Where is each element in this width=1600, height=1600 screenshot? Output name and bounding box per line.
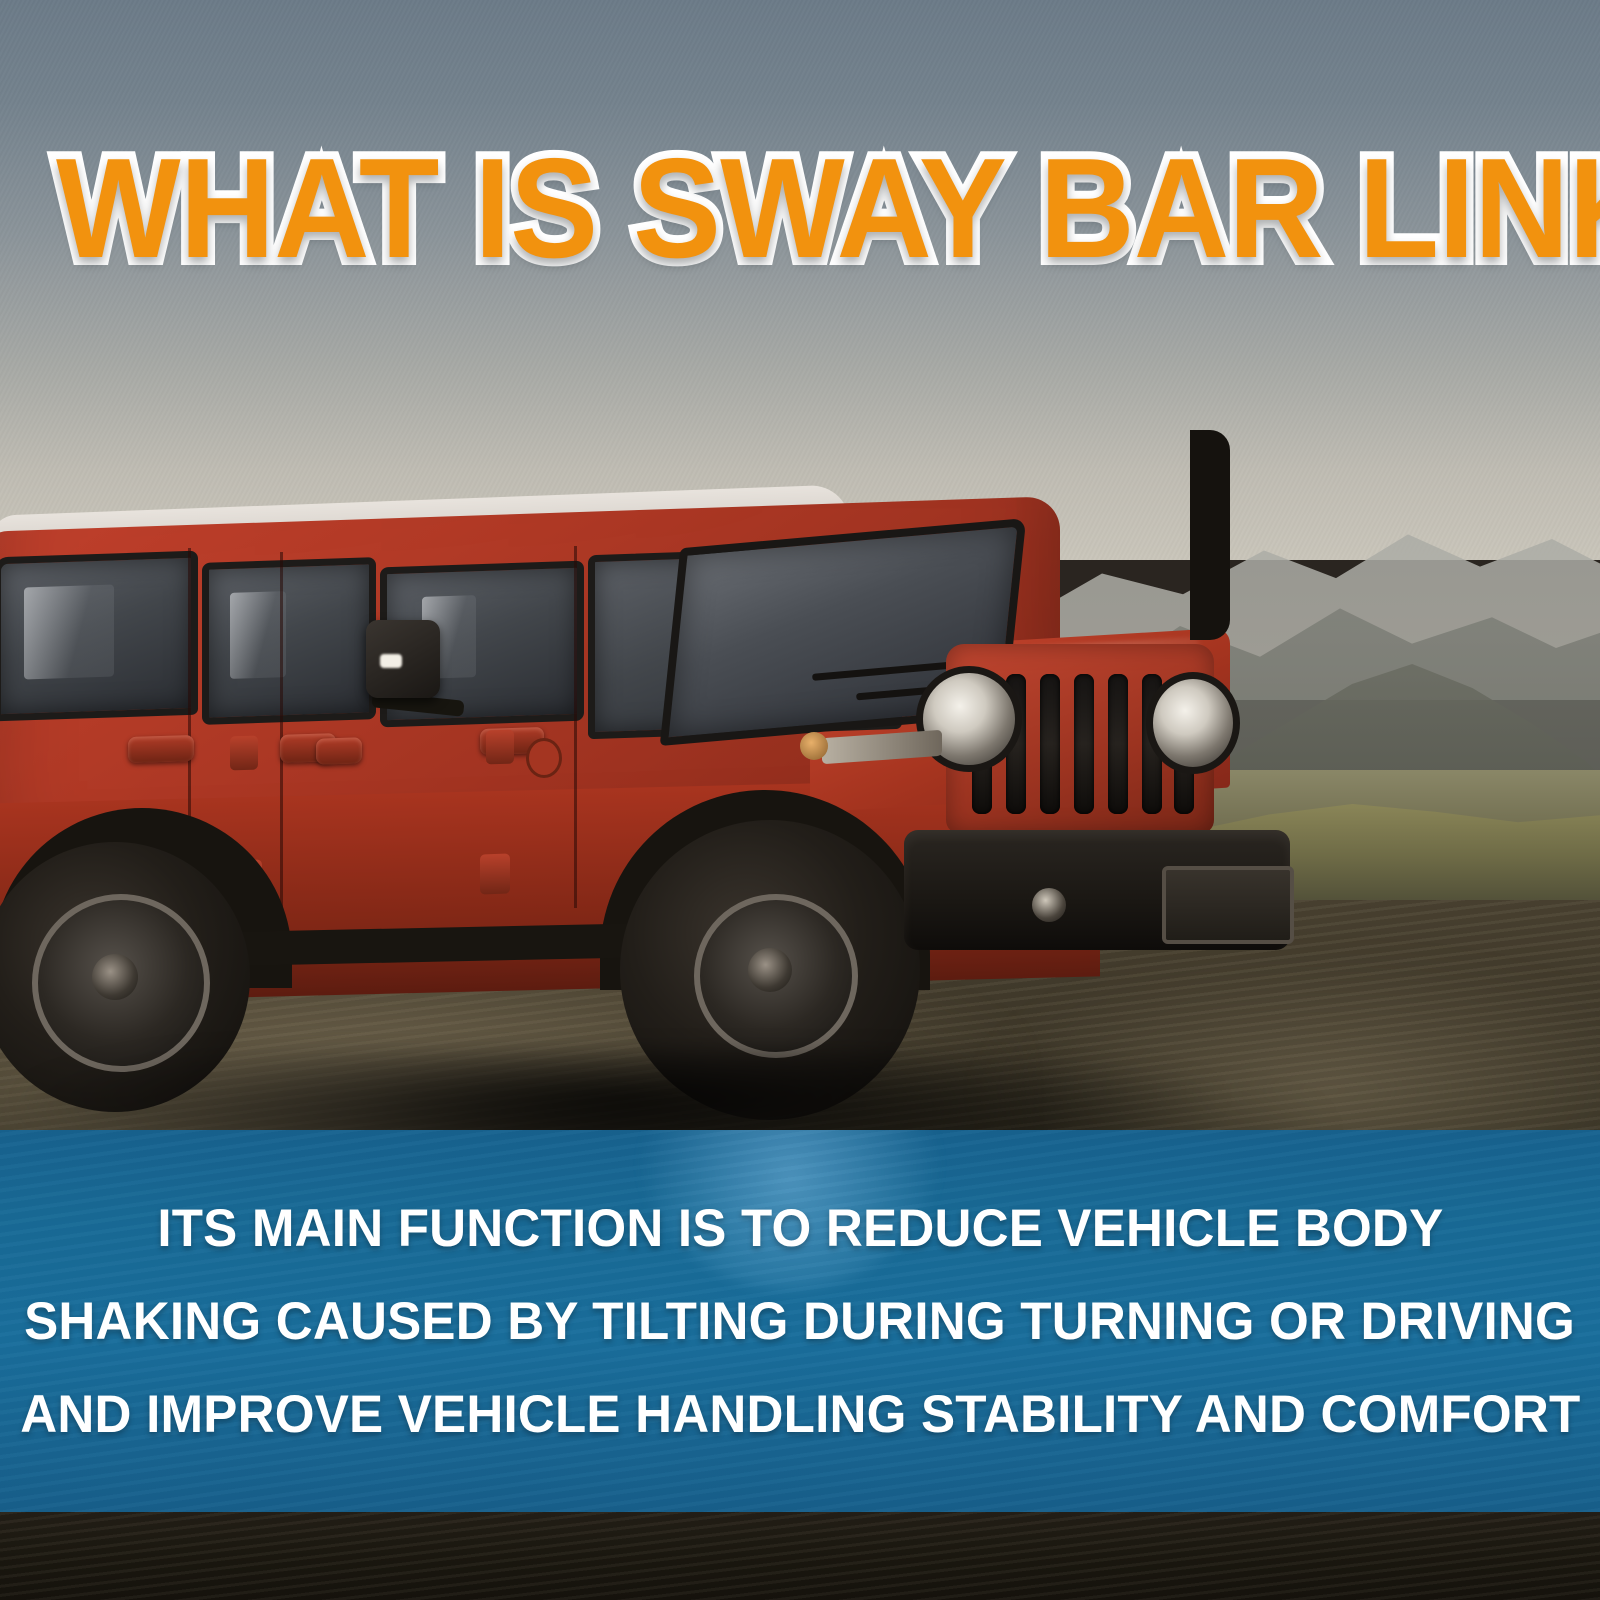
window-reflection-1 <box>24 585 114 680</box>
grille-slot-3 <box>1040 674 1060 814</box>
caption-text-block: ITS MAIN FUNCTION IS TO REDUCE VEHICLE B… <box>0 1130 1600 1512</box>
side-mirror <box>366 620 440 698</box>
front-wheel-hub <box>748 948 792 992</box>
door-seam-2 <box>280 552 283 908</box>
fog-lamp <box>1032 888 1066 922</box>
side-mirror-glint <box>380 654 402 668</box>
caption-band: ITS MAIN FUNCTION IS TO REDUCE VEHICLE B… <box>0 1130 1600 1512</box>
page-title: WHAT IS SWAY BAR LINK <box>56 138 1544 280</box>
headlight-right <box>1146 672 1240 774</box>
door-hinge-lower-front <box>480 854 510 895</box>
product-infographic-banner: WHAT IS SWAY BAR LINK ITS MAIN FUNCTION … <box>0 0 1600 1600</box>
fuel-filler-cap <box>526 738 562 778</box>
door-seam-3 <box>574 546 577 908</box>
caption-line-1: ITS MAIN FUNCTION IS TO REDUCE VEHICLE B… <box>157 1198 1443 1259</box>
grille-slot-5 <box>1108 674 1128 814</box>
door-hinge-upper-front <box>486 730 514 765</box>
jeep-front-end <box>910 622 1260 952</box>
door-handle-rear <box>128 735 194 763</box>
license-plate <box>1162 866 1294 944</box>
caption-line-2: SHAKING CAUSED BY TILTING DURING TURNING… <box>25 1291 1576 1352</box>
rear-wheel-hub <box>92 954 138 1000</box>
turn-signal-light <box>800 732 828 760</box>
door-handle-mid-b <box>316 737 362 764</box>
caption-line-3: AND IMPROVE VEHICLE HANDLING STABILITY A… <box>20 1384 1580 1445</box>
front-fender-edge <box>1190 430 1230 640</box>
door-hinge-upper-rear <box>230 736 258 771</box>
window-reflection-2 <box>230 591 286 679</box>
jeep-rear-door-window <box>202 557 376 725</box>
footer-strip <box>0 1512 1600 1600</box>
grille-slot-4 <box>1074 674 1094 814</box>
